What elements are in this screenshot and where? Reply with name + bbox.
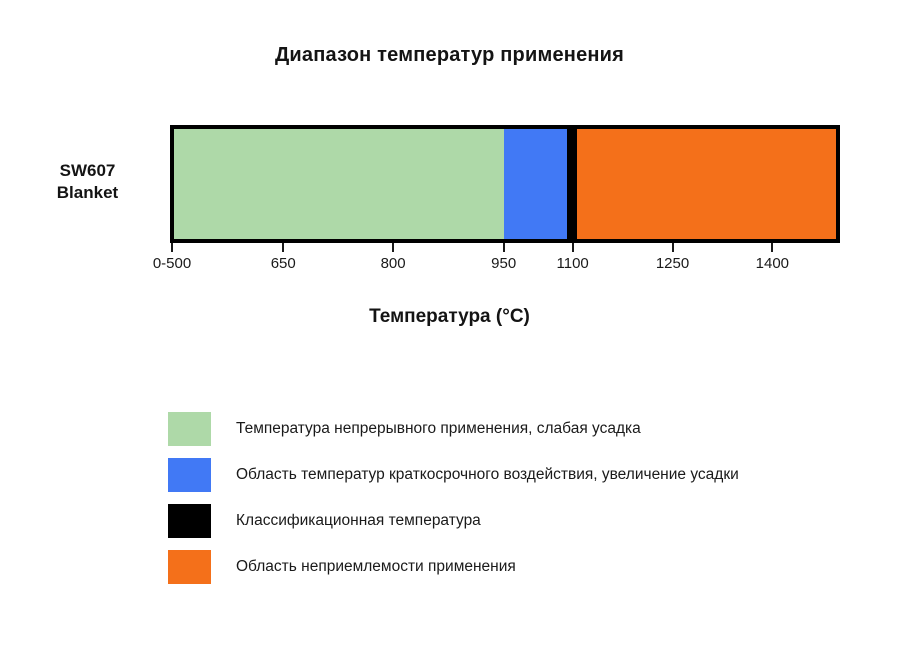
- bar-segment-short-term-exposure: [504, 129, 568, 239]
- x-axis-tick-label: 1250: [656, 255, 689, 272]
- x-axis-tick: [572, 243, 574, 252]
- x-axis-tick-label: 650: [271, 255, 296, 272]
- x-axis-tick-label: 1400: [756, 255, 789, 272]
- bar-segment-continuous-use: [174, 129, 504, 239]
- x-axis-tick-label: 800: [381, 255, 406, 272]
- legend-swatch-unacceptable-use: [168, 550, 211, 584]
- legend-item-unacceptable-use: Область неприемлемости применения: [168, 544, 868, 590]
- plot-area: [170, 125, 840, 243]
- x-axis-tick-labels: 0-500650800950110012501400: [170, 255, 840, 277]
- x-axis-tick: [771, 243, 773, 252]
- chart-canvas: Диапазон температур применения SW607 Bla…: [0, 0, 899, 645]
- x-axis-ticks: [170, 243, 840, 253]
- legend-label-unacceptable-use: Область неприемлемости применения: [236, 558, 516, 576]
- x-axis-tick: [503, 243, 505, 252]
- bar-segment-unacceptable-use: [577, 129, 836, 239]
- x-axis-tick-label: 950: [491, 255, 516, 272]
- x-axis-title: Температура (°C): [0, 306, 899, 328]
- legend-item-classification-temperature: Классификационная температура: [168, 498, 868, 544]
- legend-swatch-continuous-use: [168, 412, 211, 446]
- legend-label-classification-temperature: Классификационная температура: [236, 512, 481, 530]
- category-label-line-2: Blanket: [20, 182, 155, 204]
- x-axis-tick-label: 1100: [557, 255, 589, 272]
- legend-item-continuous-use: Температура непрерывного применения, сла…: [168, 406, 868, 452]
- legend-swatch-short-term-exposure: [168, 458, 211, 492]
- chart-title: Диапазон температур применения: [0, 44, 899, 67]
- legend-label-short-term-exposure: Область температур краткосрочного воздей…: [236, 466, 739, 484]
- temperature-range-bar: [174, 129, 836, 239]
- legend-label-continuous-use: Температура непрерывного применения, сла…: [236, 420, 641, 438]
- x-axis-tick: [392, 243, 394, 252]
- chart-legend: Температура непрерывного применения, сла…: [168, 406, 868, 590]
- x-axis-tick: [282, 243, 284, 252]
- bar-segment-classification-temperature: [567, 129, 577, 239]
- x-axis-tick-label: 0-500: [153, 255, 191, 272]
- legend-swatch-classification-temperature: [168, 504, 211, 538]
- x-axis-tick: [171, 243, 173, 252]
- category-label-line-1: SW607: [20, 160, 155, 182]
- legend-item-short-term-exposure: Область температур краткосрочного воздей…: [168, 452, 868, 498]
- x-axis-tick: [672, 243, 674, 252]
- category-label-sw607-blanket: SW607 Blanket: [20, 160, 155, 204]
